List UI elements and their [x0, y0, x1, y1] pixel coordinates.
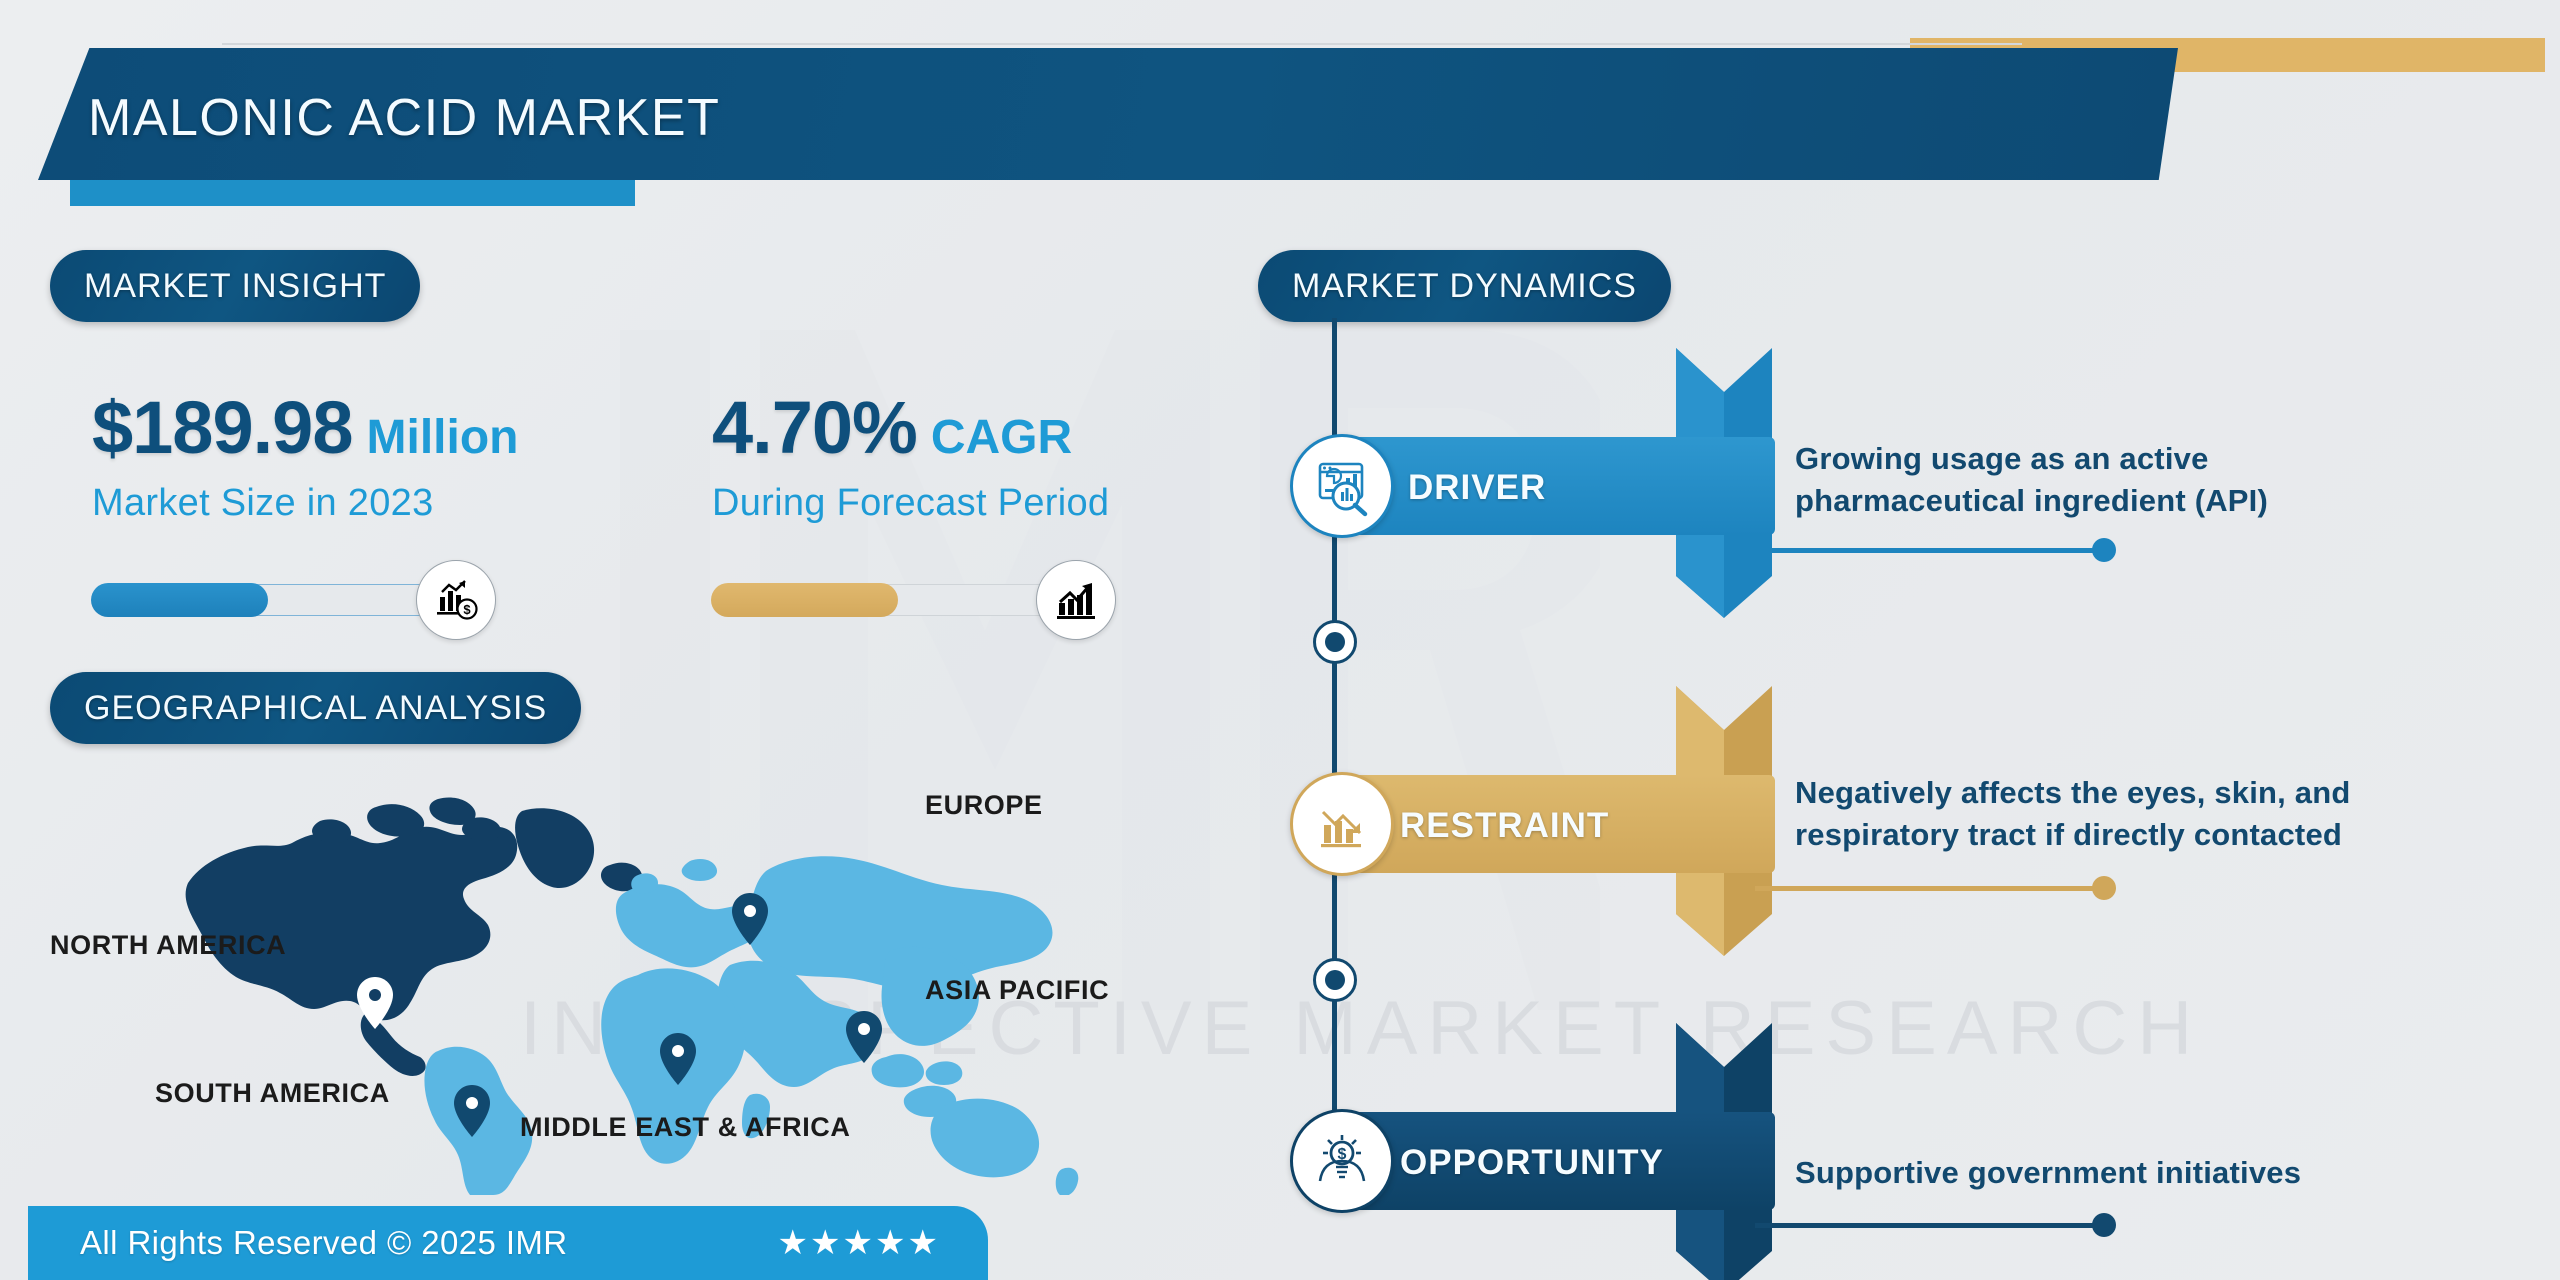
driver-connector-dot — [2092, 538, 2116, 562]
svg-text:$: $ — [463, 602, 471, 617]
cagr-stat: 4.70% CAGR During Forecast Period — [712, 385, 1109, 525]
market-size-unit: Million — [367, 410, 519, 465]
geographical-analysis-heading-label: GEOGRAPHICAL ANALYSIS — [84, 689, 547, 728]
bar-chart-dollar-icon: $ — [416, 560, 496, 640]
cagr-value: 4.70% — [712, 385, 917, 470]
header-underline-accent — [70, 180, 635, 206]
cagr-progress-track — [712, 584, 1052, 616]
cagr-progress-fill — [711, 583, 898, 617]
geo-label-south-america: SOUTH AMERICA — [155, 1078, 390, 1109]
map-region-eurasia-africa — [601, 856, 1078, 1195]
cagr-unit: CAGR — [931, 410, 1072, 465]
dynamics-timeline-node-2 — [1313, 958, 1357, 1002]
market-dynamics-heading: MARKET DYNAMICS — [1258, 250, 1671, 322]
market-size-stat: $189.98 Million Market Size in 2023 — [92, 385, 518, 525]
rating-stars: ★★★★★ — [778, 1223, 940, 1263]
restraint-connector-line — [1755, 886, 2100, 891]
restraint-label: RESTRAINT — [1400, 806, 1609, 846]
cagr-progress — [712, 560, 1116, 640]
opportunity-label: OPPORTUNITY — [1400, 1143, 1664, 1183]
market-size-progress-track — [92, 584, 432, 616]
restraint-description: Negatively affects the eyes, skin, and r… — [1795, 772, 2455, 856]
lightbulb-dollar-icon: $ — [1290, 1109, 1394, 1213]
driver-label: DRIVER — [1408, 468, 1546, 508]
driver-connector-line — [1755, 548, 2100, 553]
geo-label-europe: EUROPE — [925, 790, 1043, 821]
geo-label-north-america: NORTH AMERICA — [50, 930, 286, 961]
geo-label-middle-east-africa: MIDDLE EAST & AFRICA — [520, 1112, 851, 1143]
market-size-value: $189.98 — [92, 385, 353, 470]
market-size-caption: Market Size in 2023 — [92, 482, 518, 525]
report-magnifier-icon — [1290, 434, 1394, 538]
declining-bar-chart-icon — [1290, 772, 1394, 876]
driver-description: Growing usage as an active pharmaceutica… — [1795, 438, 2425, 522]
restraint-connector-dot — [2092, 876, 2116, 900]
cagr-caption: During Forecast Period — [712, 482, 1109, 525]
header-hairline — [222, 43, 2022, 45]
market-size-progress-fill — [91, 583, 268, 617]
copyright-text: All Rights Reserved © 2025 IMR — [80, 1224, 568, 1262]
page-title: MALONIC ACID MARKET — [88, 88, 720, 148]
market-insight-heading: MARKET INSIGHT — [50, 250, 420, 322]
opportunity-connector-dot — [2092, 1213, 2116, 1237]
growth-arrow-chart-icon — [1036, 560, 1116, 640]
market-insight-heading-label: MARKET INSIGHT — [84, 267, 386, 306]
footer-bar: All Rights Reserved © 2025 IMR ★★★★★ — [28, 1206, 988, 1280]
dynamics-timeline-node-1 — [1313, 620, 1357, 664]
geographical-analysis-heading: GEOGRAPHICAL ANALYSIS — [50, 672, 581, 744]
infographic-root: INTROSPECTIVE MARKET RESEARCH MALONIC AC… — [0, 0, 2560, 1280]
opportunity-connector-line — [1755, 1223, 2100, 1228]
geo-label-asia-pacific: ASIA PACIFIC — [925, 975, 1109, 1006]
market-size-progress: $ — [92, 560, 496, 640]
opportunity-description: Supportive government initiatives — [1795, 1152, 2455, 1194]
market-dynamics-heading-label: MARKET DYNAMICS — [1292, 267, 1637, 306]
